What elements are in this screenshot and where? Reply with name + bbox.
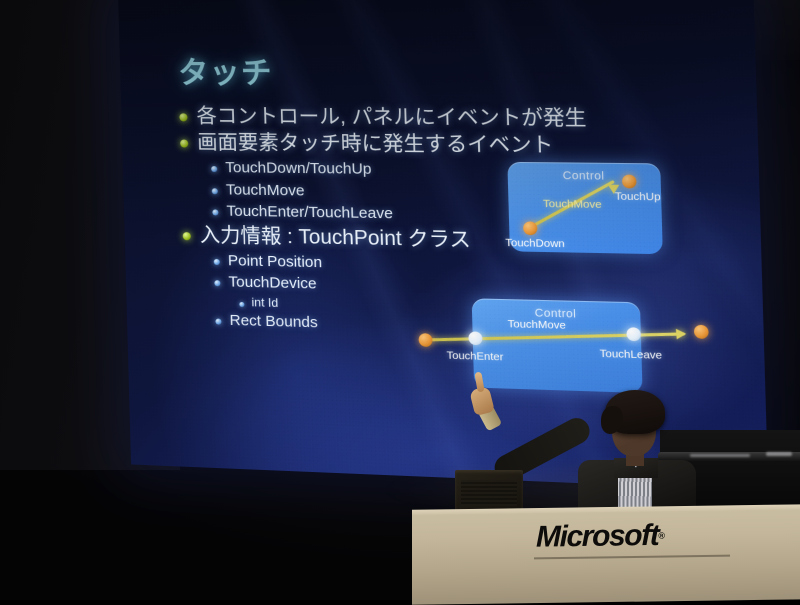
presenter-hair (605, 390, 665, 434)
trademark-symbol: ® (658, 531, 665, 541)
microsoft-wordmark: Microsoft (536, 519, 658, 554)
piano-highlight (766, 452, 792, 456)
stage-monitor-speaker (455, 470, 523, 512)
microsoft-logo: Microsoft® (536, 518, 726, 555)
presenter (556, 376, 736, 526)
